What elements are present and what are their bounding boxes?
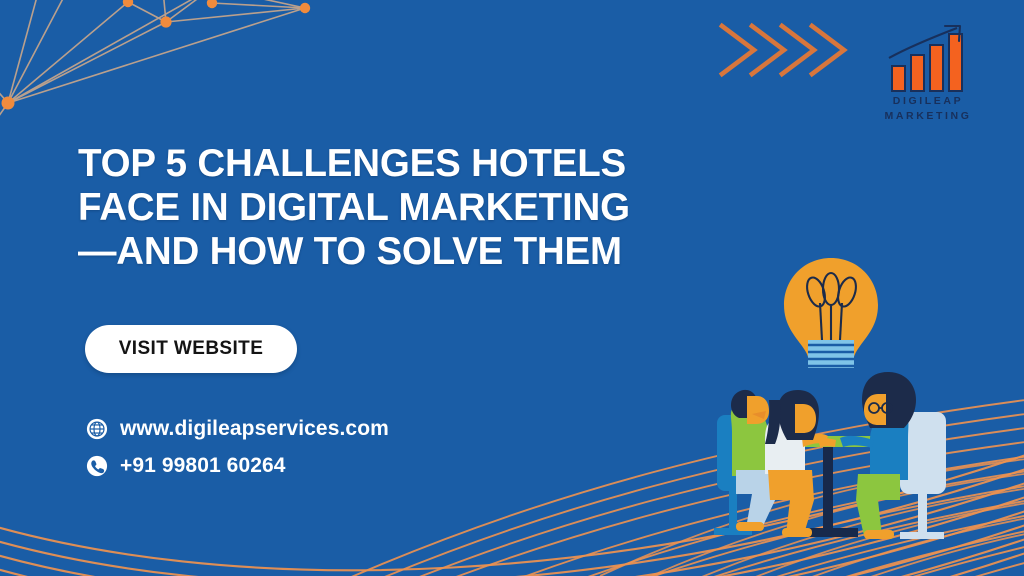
brand-logo: DIGILEAP MARKETING bbox=[853, 22, 1003, 134]
bar-chart-growth-icon bbox=[885, 22, 971, 94]
globe-icon bbox=[86, 418, 108, 440]
headline-line-3: —AND HOW TO SOLVE THEM bbox=[78, 230, 738, 274]
headline-line-1: TOP 5 CHALLENGES HOTELS bbox=[78, 142, 738, 186]
phone-text: +91 99801 60264 bbox=[120, 454, 286, 478]
person-left bbox=[714, 390, 778, 535]
person-right bbox=[818, 372, 946, 539]
phone-icon bbox=[86, 455, 108, 477]
website-text: www.digileapservices.com bbox=[120, 417, 389, 441]
headline-line-2: FACE IN DIGITAL MARKETING bbox=[78, 186, 738, 230]
visit-website-button[interactable]: VISIT WEBSITE bbox=[85, 325, 297, 373]
logo-text-line1: DIGILEAP bbox=[853, 94, 1003, 109]
contact-info: www.digileapservices.com +91 99801 60264 bbox=[86, 412, 516, 486]
website-row[interactable]: www.digileapservices.com bbox=[86, 412, 516, 446]
marketing-banner: DIGILEAP MARKETING TOP 5 CHALLENGES HOTE… bbox=[0, 0, 1024, 576]
logo-text-line2: MARKETING bbox=[853, 109, 1003, 124]
person-middle bbox=[765, 390, 828, 537]
lightbulb-icon bbox=[784, 258, 878, 368]
phone-row[interactable]: +91 99801 60264 bbox=[86, 449, 516, 483]
page-title: TOP 5 CHALLENGES HOTELS FACE IN DIGITAL … bbox=[78, 142, 738, 274]
